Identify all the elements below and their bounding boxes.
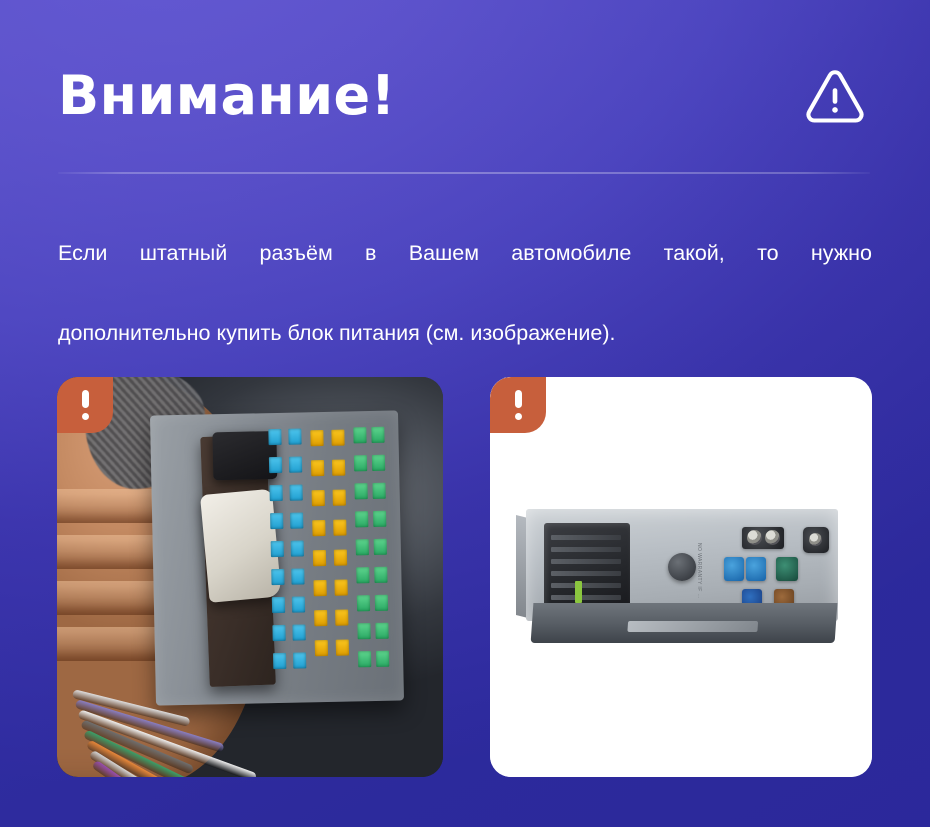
- connector-pin: [288, 428, 301, 444]
- power-supply-image: NO WARRANTY IF ...: [490, 377, 872, 777]
- connector-pin: [358, 651, 371, 667]
- connector-pin: [375, 595, 388, 611]
- connector-pin: [376, 651, 389, 667]
- connector-pin: [334, 550, 347, 566]
- module-sticker-text: NO WARRANTY IF ...: [696, 543, 702, 599]
- wire-bundle: [67, 663, 297, 777]
- connector-slot: [551, 535, 621, 540]
- connector-pin: [290, 512, 303, 528]
- connector-pin: [333, 490, 346, 506]
- fakra-connector-blue: [724, 557, 744, 581]
- connector-housing: [150, 410, 404, 705]
- connector-pin: [357, 623, 370, 639]
- connector-pin: [334, 580, 347, 596]
- page-root: Внимание! Если штатный разъём в Вашем ав…: [0, 0, 930, 827]
- connector-slot: [551, 547, 621, 552]
- connector-pin: [356, 567, 369, 583]
- warning-paragraph: Если штатный разъём в Вашем автомобиле т…: [58, 233, 872, 353]
- stock-connector-image: [57, 377, 443, 777]
- connector-pin: [333, 520, 346, 536]
- connector-slot: [551, 583, 621, 588]
- exclamation-mark-icon: [82, 390, 89, 420]
- connector-pin: [375, 623, 388, 639]
- connector-slot: [551, 595, 621, 600]
- warning-paragraph-line-2: дополнительно купить блок питания (см. и…: [58, 313, 872, 353]
- connector-pin: [269, 485, 282, 501]
- module-base: [531, 603, 838, 643]
- warning-paragraph-line-1: Если штатный разъём в Вашем автомобиле т…: [58, 233, 872, 313]
- connector-pin: [315, 640, 328, 656]
- connector-pin: [332, 460, 345, 476]
- connector-pin: [353, 427, 366, 443]
- connector-pin: [289, 484, 302, 500]
- connector-pin: [371, 427, 384, 443]
- connector-pin: [335, 610, 348, 626]
- connector-pin: [372, 455, 385, 471]
- connector-pin: [310, 430, 323, 446]
- connector-pin: [292, 624, 305, 640]
- connector-slot: [551, 571, 621, 576]
- connector-pin: [374, 567, 387, 583]
- connector-pin: [356, 539, 369, 555]
- connector-pin: [271, 541, 284, 557]
- warning-triangle-icon: [804, 65, 866, 127]
- module-black-connector: [544, 523, 630, 613]
- connector-pin: [269, 457, 282, 473]
- module-knob: [668, 553, 696, 581]
- image-cards-row: NO WARRANTY IF ...: [57, 377, 872, 777]
- page-title: Внимание!: [58, 69, 396, 123]
- card-warning-badge: [490, 377, 546, 433]
- connector-pin: [331, 430, 344, 446]
- antenna-connector-white: [747, 530, 762, 545]
- connector-pin: [354, 455, 367, 471]
- connector-pin: [372, 483, 385, 499]
- card-power-supply[interactable]: NO WARRANTY IF ...: [490, 377, 872, 777]
- connector-pin: [270, 513, 283, 529]
- connector-pin: [272, 625, 285, 641]
- connector-slot: [551, 559, 621, 564]
- fakra-connector-blue: [746, 557, 766, 581]
- connector-pin: [373, 511, 386, 527]
- page-header: Внимание!: [58, 48, 872, 144]
- connector-pin: [268, 429, 281, 445]
- fakra-connector-green: [776, 557, 798, 581]
- connector-pin: [354, 483, 367, 499]
- connector-pin: [292, 596, 305, 612]
- connector-pin: [289, 456, 302, 472]
- antenna-connector-white: [765, 530, 780, 545]
- connector-green-key: [575, 581, 582, 603]
- connector-pin: [312, 520, 325, 536]
- header-divider: [58, 172, 870, 174]
- connector-pin: [291, 540, 304, 556]
- connector-pin: [311, 460, 324, 476]
- module-screw: [809, 533, 822, 546]
- power-supply-module: NO WARRANTY IF ...: [516, 499, 846, 659]
- connector-pin: [357, 595, 370, 611]
- connector-white-clip: [200, 489, 281, 603]
- connector-pin: [272, 597, 285, 613]
- connector-pin: [355, 511, 368, 527]
- connector-pin: [271, 569, 284, 585]
- connector-pin: [313, 580, 326, 596]
- exclamation-mark-icon: [515, 390, 522, 420]
- connector-pin: [313, 550, 326, 566]
- module-base-label: [627, 621, 758, 632]
- connector-pin: [314, 610, 327, 626]
- connector-pin: [312, 490, 325, 506]
- connector-pin: [374, 539, 387, 555]
- connector-pin: [291, 568, 304, 584]
- connector-pin: [336, 640, 349, 656]
- card-warning-badge: [57, 377, 113, 433]
- card-stock-connector[interactable]: [57, 377, 443, 777]
